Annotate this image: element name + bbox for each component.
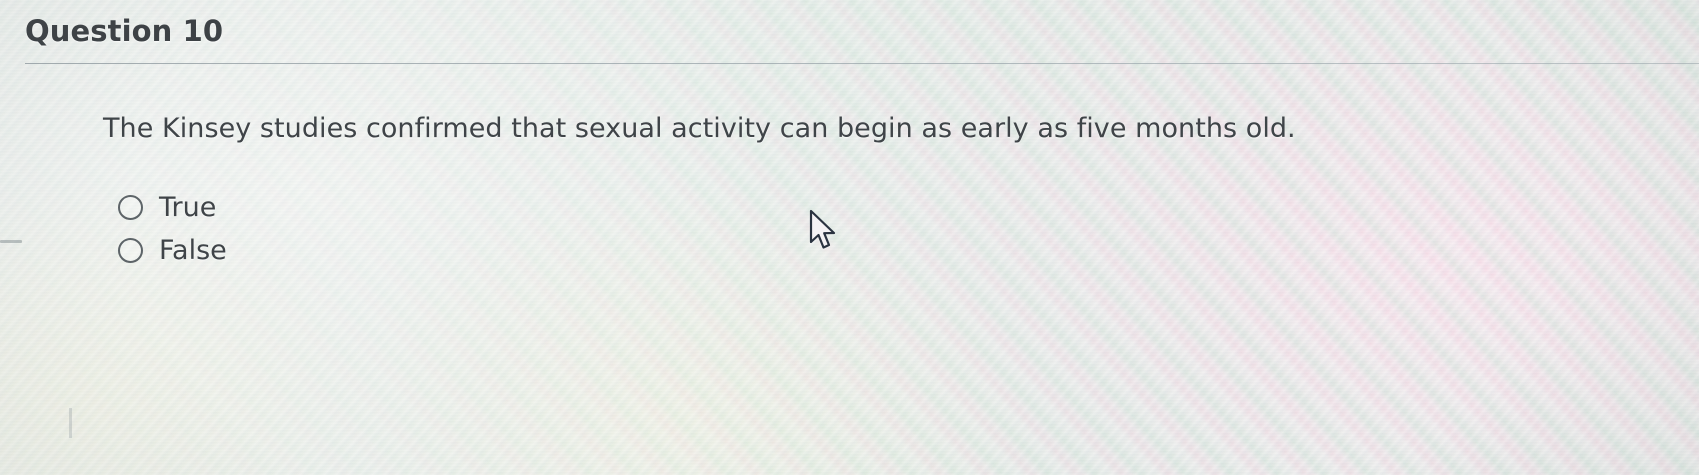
page-title: Question 10 <box>25 14 223 48</box>
answer-option-false[interactable]: False <box>118 229 227 272</box>
radio-button-false-icon[interactable] <box>118 238 143 263</box>
lower-left-edge-artifact <box>69 408 72 438</box>
question-prompt: The Kinsey studies confirmed that sexual… <box>103 113 1296 144</box>
answer-options-group: True False <box>118 186 227 272</box>
radio-button-true-icon[interactable] <box>118 195 143 220</box>
quiz-question-screen: Question 10 The Kinsey studies confirmed… <box>0 0 1699 475</box>
mouse-cursor-arrow-icon <box>808 209 842 255</box>
answer-option-true[interactable]: True <box>118 186 227 229</box>
question-content: Question 10 The Kinsey studies confirmed… <box>0 0 1699 475</box>
answer-option-false-label: False <box>159 235 227 266</box>
title-divider <box>25 63 1699 64</box>
left-edge-artifact <box>0 240 22 243</box>
answer-option-true-label: True <box>159 192 216 223</box>
